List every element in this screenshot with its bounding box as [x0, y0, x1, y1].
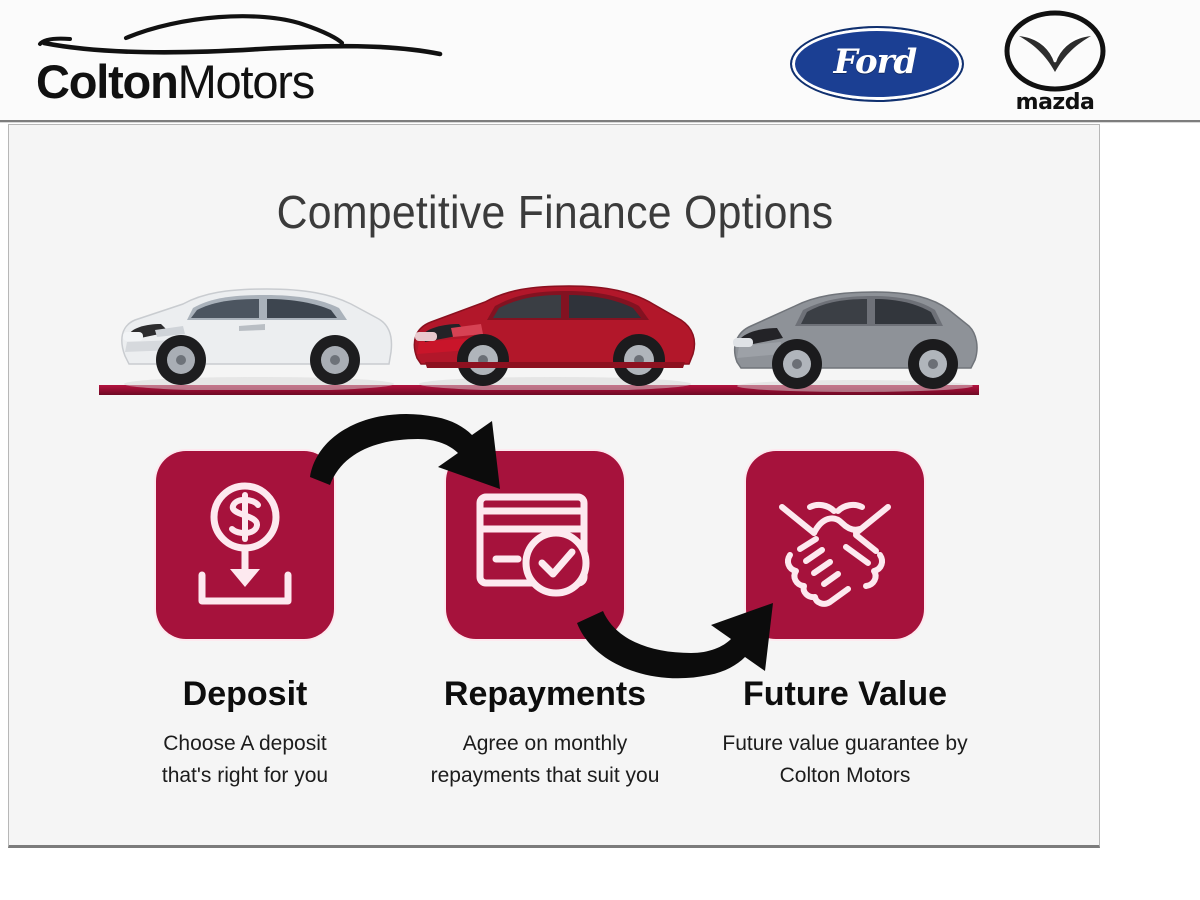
- arrow-deposit-to-repayments: [304, 401, 534, 511]
- car-white-suv: [99, 260, 409, 390]
- mazda-emblem-icon: [1003, 10, 1107, 92]
- car-red-sedan: [399, 258, 709, 390]
- step-description-line1: Agree on monthly: [380, 728, 710, 760]
- page-header: ColtonMotors Ford mazda: [0, 0, 1200, 122]
- brand-name-bold: Colton: [36, 55, 178, 108]
- caption-deposit: Deposit Choose A deposit that's right fo…: [80, 675, 410, 792]
- step-description-future-value: Future value guarantee by Colton Motors: [680, 728, 1010, 792]
- step-title-future-value: Future Value: [680, 675, 1010, 714]
- step-description-line1: Choose A deposit: [80, 728, 410, 760]
- step-description-line2: that's right for you: [80, 760, 410, 792]
- car-silhouette-icon: [30, 8, 450, 58]
- step-description-line2: Colton Motors: [680, 760, 1010, 792]
- brand-wordmark: ColtonMotors: [36, 54, 314, 110]
- slide-panel: Competitive Finance Options: [8, 124, 1100, 848]
- mazda-wordmark: mazda: [1000, 90, 1110, 115]
- caption-future-value: Future Value Future value guarantee by C…: [680, 675, 1010, 792]
- page-title: Competitive Finance Options: [47, 185, 1063, 239]
- step-title-deposit: Deposit: [80, 675, 410, 714]
- step-description-line2: repayments that suit you: [380, 760, 710, 792]
- step-title-repayments: Repayments: [380, 675, 710, 714]
- step-description-line1: Future value guarantee by: [680, 728, 1010, 760]
- mazda-logo[interactable]: mazda: [1000, 10, 1110, 118]
- step-description-deposit: Choose A deposit that's right for you: [80, 728, 410, 792]
- colton-motors-logo[interactable]: ColtonMotors: [30, 8, 450, 118]
- ford-logo[interactable]: Ford: [790, 26, 960, 98]
- car-lineup: [79, 250, 1039, 410]
- caption-repayments: Repayments Agree on monthly repayments t…: [380, 675, 710, 792]
- brand-name-light: Motors: [178, 55, 314, 108]
- ford-label: Ford: [790, 26, 960, 98]
- car-grey-hatchback: [719, 268, 989, 392]
- step-description-repayments: Agree on monthly repayments that suit yo…: [380, 728, 710, 792]
- header-divider: [0, 120, 1200, 123]
- deposit-dollar-arrow-icon: [180, 477, 310, 613]
